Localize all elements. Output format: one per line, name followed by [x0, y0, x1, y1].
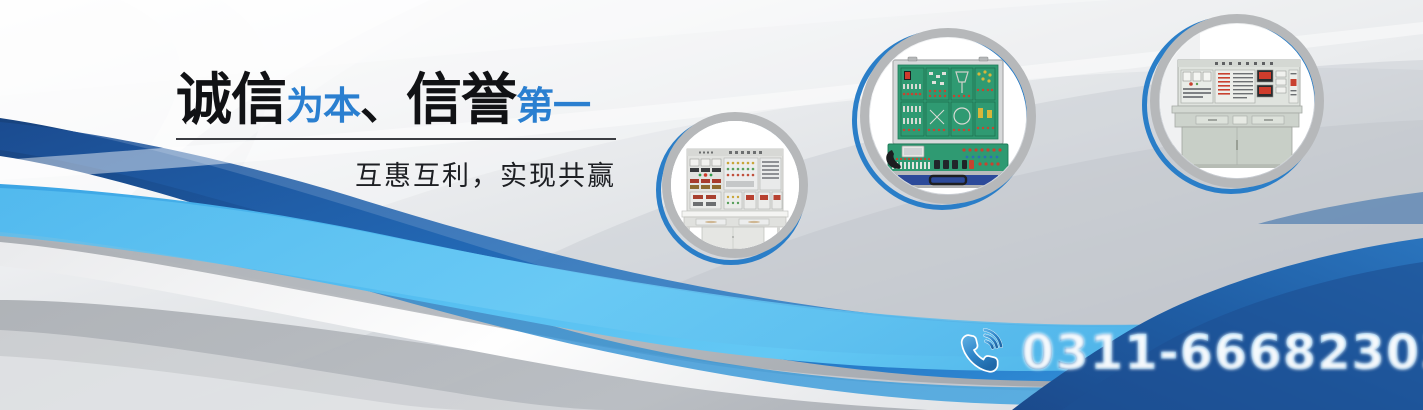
- product-circle-1-photo-disc: [671, 121, 799, 249]
- product-image-training-case-2: [870, 38, 1026, 194]
- phone-number[interactable]: 0311-66682303: [1021, 325, 1423, 381]
- headline-part-2: 为本: [286, 86, 360, 128]
- product-circle-2: [852, 28, 1036, 212]
- product-circle-3-photo-disc: [1160, 24, 1314, 178]
- headline-part-3: 信誉: [406, 68, 516, 131]
- headline-punctuation: 、: [360, 77, 406, 129]
- promo-banner: 诚信为本、信誉第一 互惠互利，实现共赢: [0, 0, 1423, 410]
- headline-block: 诚信为本、信誉第一 互惠互利，实现共赢: [176, 72, 628, 193]
- headline-part-4: 第一: [516, 86, 590, 128]
- headline: 诚信为本、信誉第一: [176, 72, 628, 128]
- product-image-workbench-1: [671, 121, 799, 249]
- product-circle-1: [656, 112, 808, 264]
- phone-call-icon[interactable]: [955, 327, 1007, 379]
- subtitle: 互惠互利，实现共赢: [176, 140, 616, 193]
- headline-part-1: 诚信: [176, 68, 286, 131]
- product-image-workbench-3: [1160, 24, 1314, 178]
- product-circle-2-photo-disc: [870, 38, 1026, 194]
- contact-phone-block[interactable]: 0311-66682303 0311-66682303: [955, 325, 1423, 381]
- product-circle-3: [1142, 14, 1324, 196]
